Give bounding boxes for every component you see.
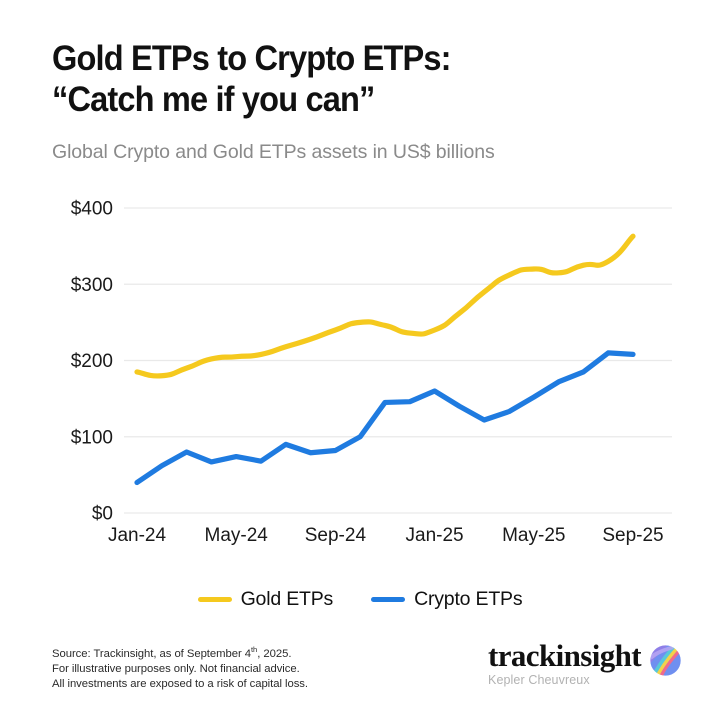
logo-text: trackinsight Kepler Cheuvreux xyxy=(488,638,641,687)
y-tick-label: $0 xyxy=(92,504,113,525)
infographic-page: Gold ETPs to Crypto ETPs: “Catch me if y… xyxy=(0,0,720,720)
chart-svg: $0$100$200$300$400 Jan-24May-24Sep-24Jan… xyxy=(0,190,720,560)
x-tick-label: Jan-24 xyxy=(108,525,167,546)
y-tick-label: $100 xyxy=(71,427,113,448)
globe-icon xyxy=(649,644,682,677)
x-tick-label: Sep-24 xyxy=(305,525,367,546)
legend-swatch-crypto xyxy=(371,597,405,602)
source-line-1-post: , 2025. xyxy=(257,648,291,660)
logo-tagline: Kepler Cheuvreux xyxy=(488,673,641,687)
logo-wordmark: trackinsight xyxy=(488,640,641,672)
legend-item-crypto[interactable]: Crypto ETPs xyxy=(371,588,522,611)
x-tick-label: May-25 xyxy=(502,525,565,546)
source-line-3: All investments are exposed to a risk of… xyxy=(52,677,308,692)
x-tick-label: May-24 xyxy=(205,525,269,546)
series-line-crypto-etps xyxy=(137,353,633,483)
y-tick-label: $200 xyxy=(71,351,113,372)
page-subtitle: Global Crypto and Gold ETPs assets in US… xyxy=(52,141,672,164)
y-axis-tick-labels: $0$100$200$300$400 xyxy=(71,199,113,525)
footer: Source: Trackinsight, as of September 4t… xyxy=(0,636,720,720)
legend-item-gold[interactable]: Gold ETPs xyxy=(198,588,333,611)
x-tick-label: Jan-25 xyxy=(406,525,464,546)
series-line-gold-etps xyxy=(137,236,633,376)
legend-label-crypto: Crypto ETPs xyxy=(414,588,522,611)
brand-logo[interactable]: trackinsight Kepler Cheuvreux xyxy=(488,638,682,687)
y-tick-label: $400 xyxy=(71,199,113,220)
source-line-1: Source: Trackinsight, as of September 4t… xyxy=(52,642,308,662)
source-line-2: For illustrative purposes only. Not fina… xyxy=(52,662,308,677)
header: Gold ETPs to Crypto ETPs: “Catch me if y… xyxy=(52,38,672,164)
x-axis-tick-labels: Jan-24May-24Sep-24Jan-25May-25Sep-25 xyxy=(108,525,664,546)
source-line-1-pre: Source: Trackinsight, as of September 4 xyxy=(52,648,251,660)
legend-label-gold: Gold ETPs xyxy=(241,588,333,611)
line-chart: $0$100$200$300$400 Jan-24May-24Sep-24Jan… xyxy=(0,190,720,560)
y-tick-label: $300 xyxy=(71,275,113,296)
page-title: Gold ETPs to Crypto ETPs: “Catch me if y… xyxy=(52,38,629,120)
chart-legend: Gold ETPs Crypto ETPs xyxy=(0,588,720,611)
source-note: Source: Trackinsight, as of September 4t… xyxy=(52,642,308,693)
series-lines xyxy=(137,236,633,482)
x-tick-label: Sep-25 xyxy=(602,525,663,546)
legend-swatch-gold xyxy=(198,597,232,602)
